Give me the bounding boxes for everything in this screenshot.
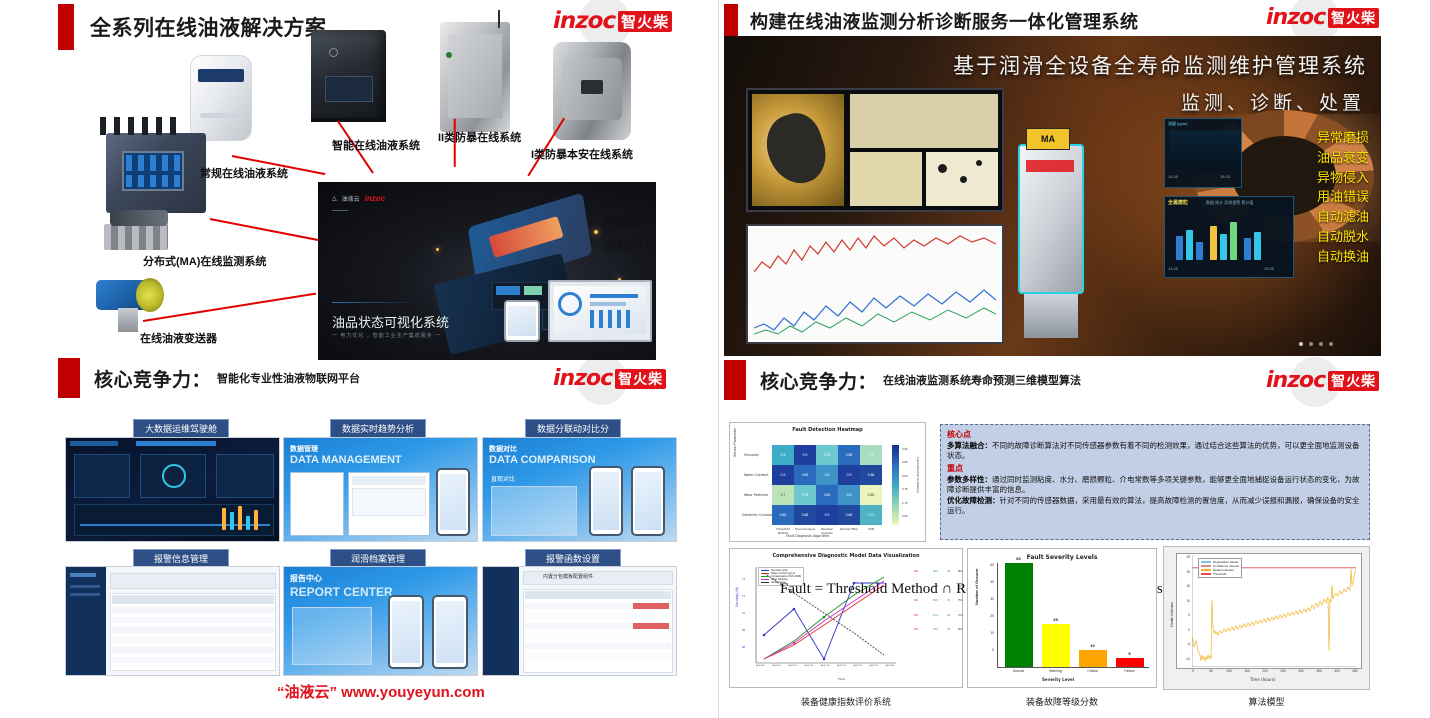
website-url[interactable]: “油液云” www.youyeyun.com	[277, 681, 485, 702]
severity-ytick-30: 30	[982, 597, 994, 614]
severity-xtick-4: Failure	[1113, 669, 1147, 673]
device-distributed-ma	[106, 133, 206, 213]
severity-xtick-3: Critical	[1076, 669, 1110, 673]
gallery-shot-comparison[interactable]: 数据对比 DATA COMPARISON 直观对比	[482, 437, 677, 542]
health-xlabel: Time (hours)	[1250, 677, 1275, 682]
health-ytick-20: 20	[1178, 570, 1190, 585]
left-section2-header: 核心竞争力： 智能化专业性油液物联网平台	[58, 358, 360, 398]
hero-headline: 基于润滑全设备全寿命监测维护管理系统	[953, 50, 1367, 80]
panel-sub: 数据 统计 异常报警 累计值	[1206, 200, 1253, 206]
heatmap-cell: 0.85	[838, 445, 860, 465]
callout-label-smart: 智能在线油液系统	[332, 137, 420, 153]
panel-title: 全属磨粒	[1168, 199, 1188, 206]
device-conventional-online	[190, 55, 252, 141]
heatmap-colorbar-label: Fault Detection Confidence	[916, 457, 920, 493]
corebox-para-1: 多算法融合：不同的故障诊断算法对不同传感器参数有着不同的检测效果，通过结合这些算…	[947, 441, 1363, 461]
right-section-header: 构建在线油液监测分析诊断服务一体化管理系统	[724, 4, 1139, 38]
gallery-label-1: 大数据运维驾驶舱	[133, 419, 229, 438]
red-accent-block-r1	[724, 4, 738, 38]
callout-label-conventional: 常规在线油液系统	[200, 165, 288, 181]
carousel-dot-1[interactable]	[1299, 342, 1303, 346]
chart-health-indicator: Degradation Model Confidence Interval He…	[1163, 546, 1370, 690]
health-xtick-7: 300	[1292, 669, 1310, 673]
left-section-header: 全系列在线油液解决方案	[58, 4, 327, 50]
red-accent-block	[58, 4, 74, 50]
brand-mark-text-r2: inzoc	[1266, 368, 1325, 393]
mini-waveform-top	[754, 232, 996, 280]
health-ytick-25: 25	[1178, 555, 1190, 570]
yellow-item-6: 自动脱水	[1277, 227, 1369, 247]
brand-logo-r2: inzoc 智火柴	[1266, 368, 1379, 393]
severity-bar-critical: 10	[1079, 650, 1107, 667]
gallery-shot-trend[interactable]: 数据管理 DATA MANAGEMENT	[283, 437, 478, 542]
health-ylabel: Health Indicator	[1170, 602, 1174, 627]
panel-time-right: 15:20	[1264, 266, 1274, 271]
carousel-dots[interactable]	[1299, 342, 1333, 346]
terminal-list: 手机端 电脑端 监控中心	[604, 186, 656, 258]
core-point-box: 核心点 多算法融合：不同的故障诊断算法对不同传感器参数有着不同的检测效果，通过结…	[940, 424, 1370, 540]
heatmap-cell: 0.85	[816, 485, 838, 505]
yellow-item-3: 异物侵入	[1277, 168, 1369, 188]
diag-plot-area	[750, 563, 898, 675]
carousel-dot-3[interactable]	[1319, 342, 1323, 346]
gallery-shot-alarm-info[interactable]	[65, 566, 280, 676]
right-section2-title: 核心竞争力：	[760, 367, 877, 394]
hero-caption: 油品状态可视化系统	[332, 312, 449, 331]
diag-raxis3-t1: 38	[940, 565, 950, 580]
heatmap-col-4: Kalman Filter	[838, 527, 860, 535]
poster-root: 全系列在线油液解决方案 inzoc 智火柴	[0, 0, 1430, 718]
hero-logo-cn: 油液云	[342, 194, 360, 203]
heatmap-col-5: SVM	[860, 527, 882, 535]
corebox-para-2: 参数多样性：通过同时监测粘度、水分、磨损颗粒、介电常数等多项关键参数，能够更全面…	[947, 475, 1363, 495]
shot-heading-alarmfn: 内置分包模板配置组件	[543, 573, 593, 580]
right-page-title: 构建在线油液监测分析诊断服务一体化管理系统	[750, 8, 1139, 34]
shot-heading2-trend: DATA MANAGEMENT	[290, 454, 402, 466]
diag-raxis1-t1: 280	[902, 565, 918, 580]
heatmap-colorbar-ticks: 0.90 0.85 0.80 0.75 0.70 0.65	[902, 443, 907, 523]
severity-xtick-1: Normal	[1002, 669, 1036, 673]
diag-raxis3-t5: 25	[940, 623, 950, 638]
corebox-para-3: 优化故障检测：针对不同的传感器数据，采用最有效的算法，提高故障检测的置信度，从而…	[947, 496, 1363, 516]
heatmap-cell: 0.8	[816, 465, 838, 485]
diag-raxis4-t5: 60.0	[952, 623, 963, 638]
heatmap-cell: 0.88	[794, 505, 816, 525]
heatmap-cell: 0.75	[794, 485, 816, 505]
figure-caption-2: 装备故障等级分数	[967, 695, 1157, 708]
severity-bar-failure: 5	[1116, 658, 1144, 667]
diag-raxis2-t5: 16.0	[922, 623, 938, 638]
diag-raxis3-t4: 28	[940, 609, 950, 624]
chart-fault-severity: Fault Severity Levels Number of Occurre …	[967, 548, 1157, 688]
health-ytick-0: 0	[1178, 628, 1190, 643]
heatmap-cell: 0.7	[860, 445, 882, 465]
heatmap-cell: 0.9	[838, 465, 860, 485]
figure-caption-1: 装备健康指数评价系统	[729, 695, 963, 708]
severity-xtick-2: Warning	[1039, 669, 1073, 673]
heatmap-cell: 0.9	[816, 505, 838, 525]
heatmap-row-4: Dielectric Constant	[742, 513, 774, 517]
callout-label-ep1: I类防暴本安在线系统	[531, 146, 633, 162]
heatmap-title: Fault Detection Heatmap	[730, 427, 925, 433]
callout-label-distributed: 分布式(MA)在线监测系统	[143, 253, 266, 269]
callout-label-ep2: II类防暴在线系统	[438, 129, 521, 145]
diag-ytick-4: 71	[742, 588, 745, 605]
severity-ytick-0: 0	[982, 648, 994, 665]
severity-bar-warning: 25	[1042, 624, 1070, 667]
brand-mark-text-r1: inzoc	[1266, 5, 1325, 30]
industry-hero-photo: 基于润滑全设备全寿命监测维护管理系统 监测、诊断、处置	[724, 36, 1381, 356]
yellow-item-1: 异常磨损	[1277, 128, 1369, 148]
heatmap-cell: 0.73	[860, 505, 882, 525]
gauge-label: 流量 (ppm)	[1168, 121, 1188, 127]
diag-ytick-2: 69	[742, 622, 745, 639]
severity-ytick-10: 10	[982, 631, 994, 648]
yellow-item-4: 用油错误	[1277, 187, 1369, 207]
heatmap-row-2: Water Content	[744, 473, 769, 477]
page-title: 全系列在线油液解决方案	[90, 12, 327, 42]
heatmap-cell: 0.75	[816, 445, 838, 465]
health-ytick-m5: -5	[1178, 642, 1190, 657]
health-legend-4: Threshold	[1213, 572, 1226, 576]
health-ytick-15: 15	[1178, 584, 1190, 599]
corebox-heading-1: 核心点	[947, 429, 1363, 440]
shot-heading-trend: 数据管理	[290, 444, 318, 454]
gallery-shot-report-center[interactable]: 报告中心 REPORT CENTER	[283, 566, 478, 676]
health-xtick-2: 50	[1202, 669, 1220, 673]
device-oil-transmitter	[96, 274, 174, 334]
heatmap-cell: 0.88	[860, 465, 882, 485]
health-ytick-5: 5	[1178, 613, 1190, 628]
diag-ytick-3: 70	[742, 605, 745, 622]
health-ytick-10: 10	[1178, 599, 1190, 614]
health-xtick-5: 200	[1256, 669, 1274, 673]
shot-heading2-compare: DATA COMPARISON	[489, 454, 596, 466]
heatmap-cell: 0.9	[772, 465, 794, 485]
severity-ytick-40: 40	[982, 580, 994, 597]
severity-ylabel: Number of Occurre	[974, 569, 979, 605]
diag-xtick-5: 08:01:16	[817, 665, 833, 667]
hero-cloud-icon: △	[332, 195, 337, 202]
hero-subcaption: 一 电力优化 ，智能工业生产集成服务 一	[332, 332, 441, 339]
heatmap-cell: 0.7	[772, 485, 794, 505]
gallery-label-3: 数据分联动对比分	[525, 419, 621, 438]
device-cable-connectors	[100, 210, 178, 258]
diag-xtick-4: 08:01:14	[801, 665, 817, 667]
gauge-time-right: 15:20	[1220, 174, 1230, 179]
diag-ylabel: Viscosity (cSt)	[735, 587, 739, 607]
carousel-dot-2[interactable]	[1309, 342, 1313, 346]
heatmap-cell: 0.86	[838, 505, 860, 525]
shot-heading-compare: 数据对比	[489, 444, 517, 454]
brand-logo-r1: inzoc 智火柴	[1266, 5, 1379, 30]
heatmap-cell: 0.9	[794, 445, 816, 465]
severity-ytick-20: 20	[982, 614, 994, 631]
diag-ytick-1: 68	[742, 639, 745, 656]
shot-sub-compare: 直观对比	[491, 474, 515, 483]
health-xtick-3: 100	[1220, 669, 1238, 673]
gauge-time-left: 14:20	[1168, 174, 1178, 179]
corebox-heading-2: 重点	[947, 463, 1363, 474]
heatmap-cell: 0.85	[794, 465, 816, 485]
diag-title: Comprehensive Diagnostic Model Data Visu…	[730, 553, 962, 559]
severity-xlabel: Severity Level	[1042, 677, 1074, 682]
heatmap-cell: 0.8	[838, 485, 860, 505]
diag-raxis1-t4: 250	[902, 609, 918, 624]
device-smart-online-controller	[311, 30, 386, 122]
diag-raxis1-t5: 200	[902, 623, 918, 638]
shot-heading-report: 报告中心	[290, 573, 322, 584]
right-section2-header: 核心竞争力： 在线油液监测系统寿命预测三维模型算法	[724, 360, 1081, 400]
brand-cn-text: 智火柴	[618, 11, 672, 32]
diag-xlabel: Time	[838, 677, 845, 681]
terminal-item-pc: 电脑端	[604, 210, 656, 234]
callout-label-transmitter: 在线油液变送器	[140, 330, 217, 346]
gallery-label-2: 数据实时趋势分析	[330, 419, 426, 438]
heatmap-row-3: Wear Particles	[744, 493, 768, 497]
severity-ytick-60: 60	[982, 563, 994, 580]
yellow-item-2: 油品衰变	[1277, 148, 1369, 168]
red-accent-block-r2	[724, 360, 746, 400]
brand-logo-2: inzoc 智火柴	[553, 366, 666, 391]
right-column: 构建在线油液监测分析诊断服务一体化管理系统 inzoc 智火柴 基于润滑全设备全…	[718, 0, 1430, 718]
left-column: 全系列在线油液解决方案 inzoc 智火柴	[0, 0, 718, 718]
brand-cn-text-2: 智火柴	[615, 369, 666, 389]
health-xtick-4: 150	[1238, 669, 1256, 673]
gallery-shot-dashboard[interactable]	[65, 437, 280, 542]
figure-caption-3: 算法模型	[1163, 695, 1370, 708]
brand-cn-text-r2: 智火柴	[1328, 371, 1379, 391]
severity-title: Fault Severity Levels	[968, 554, 1156, 561]
red-accent-block-2	[58, 358, 80, 398]
diag-xtick-3: 08:01:12	[784, 665, 800, 667]
health-xtick-9: 400	[1328, 669, 1346, 673]
terminal-item-control-center: 监控中心	[604, 234, 656, 258]
brand-cn-text-r1: 智火柴	[1328, 8, 1379, 28]
diag-raxis4-t4: 70.0	[952, 609, 963, 624]
heatmap-xlabel: Fault Diagnosis Algorithm	[786, 534, 829, 538]
health-xtick-10: 450	[1346, 669, 1364, 673]
device-explosion-proof-2	[440, 22, 510, 132]
diag-xtick-6: 08:01:18	[833, 665, 849, 667]
brand-mark-text: inzoc	[553, 8, 615, 34]
diag-raxis4-t1: 85.0	[952, 565, 963, 580]
panel-time-left: 14:20	[1168, 266, 1178, 271]
heatmap-ylabel: Sensor Parameter	[733, 428, 737, 457]
hero-logo-en: inzoc	[365, 194, 385, 203]
heatmap-cell: 0.65	[860, 485, 882, 505]
column-divider	[718, 0, 719, 718]
yellow-item-7: 自动换油	[1277, 247, 1369, 267]
health-xtick-1: 0	[1184, 669, 1202, 673]
health-xtick-6: 250	[1274, 669, 1292, 673]
section2-title: 核心竞争力：	[94, 365, 211, 392]
diag-xtick-9: 08:02:00	[882, 665, 898, 667]
yellow-item-5: 自动滤油	[1277, 207, 1369, 227]
brand-logo: inzoc 智火柴	[553, 8, 672, 34]
shot-heading2-report: REPORT CENTER	[290, 585, 393, 599]
diag-xtick-7: 08:01:20	[849, 665, 865, 667]
diag-xtick-8: 08:01:22	[866, 665, 882, 667]
severity-bar-normal: 60	[1005, 563, 1033, 667]
health-xtick-8: 350	[1310, 669, 1328, 673]
heatmap-row-1: Viscosity	[744, 453, 759, 457]
heatmap-cell: 0.8	[772, 445, 794, 465]
diag-xtick-1: 08:01:08	[752, 665, 768, 667]
diag-raxis2-t4: 17.5	[922, 609, 938, 624]
diag-raxis2-t1: 20.0	[922, 565, 938, 580]
chart-heatmap: Fault Detection Heatmap Sensor Parameter…	[729, 422, 926, 542]
chart-diagnostic-model: Comprehensive Diagnostic Model Data Visu…	[729, 548, 963, 688]
section2-subtitle: 智能化专业性油液物联网平台	[217, 370, 360, 386]
right-section2-subtitle: 在线油液监测系统寿命预测三维模型算法	[883, 372, 1081, 388]
terminal-item-mobile: 手机端	[604, 186, 656, 210]
diag-ytick-5: 74	[742, 571, 745, 588]
mini-waveform-bottom	[754, 284, 996, 338]
gallery-shot-alarm-function[interactable]: 内置分包模板配置组件	[482, 566, 677, 676]
carousel-dot-4[interactable]	[1329, 342, 1333, 346]
diag-xtick-2: 08:01:10	[768, 665, 784, 667]
yellow-feature-list: 异常磨损 油品衰变 异物侵入 用油错误 自动滤油 自动脱水 自动换油	[1277, 128, 1369, 266]
device-explosion-proof-1	[553, 42, 631, 140]
heatmap-cell: 0.85	[772, 505, 794, 525]
ma-badge: MA	[1026, 128, 1070, 150]
brand-mark-text-2: inzoc	[553, 366, 612, 391]
